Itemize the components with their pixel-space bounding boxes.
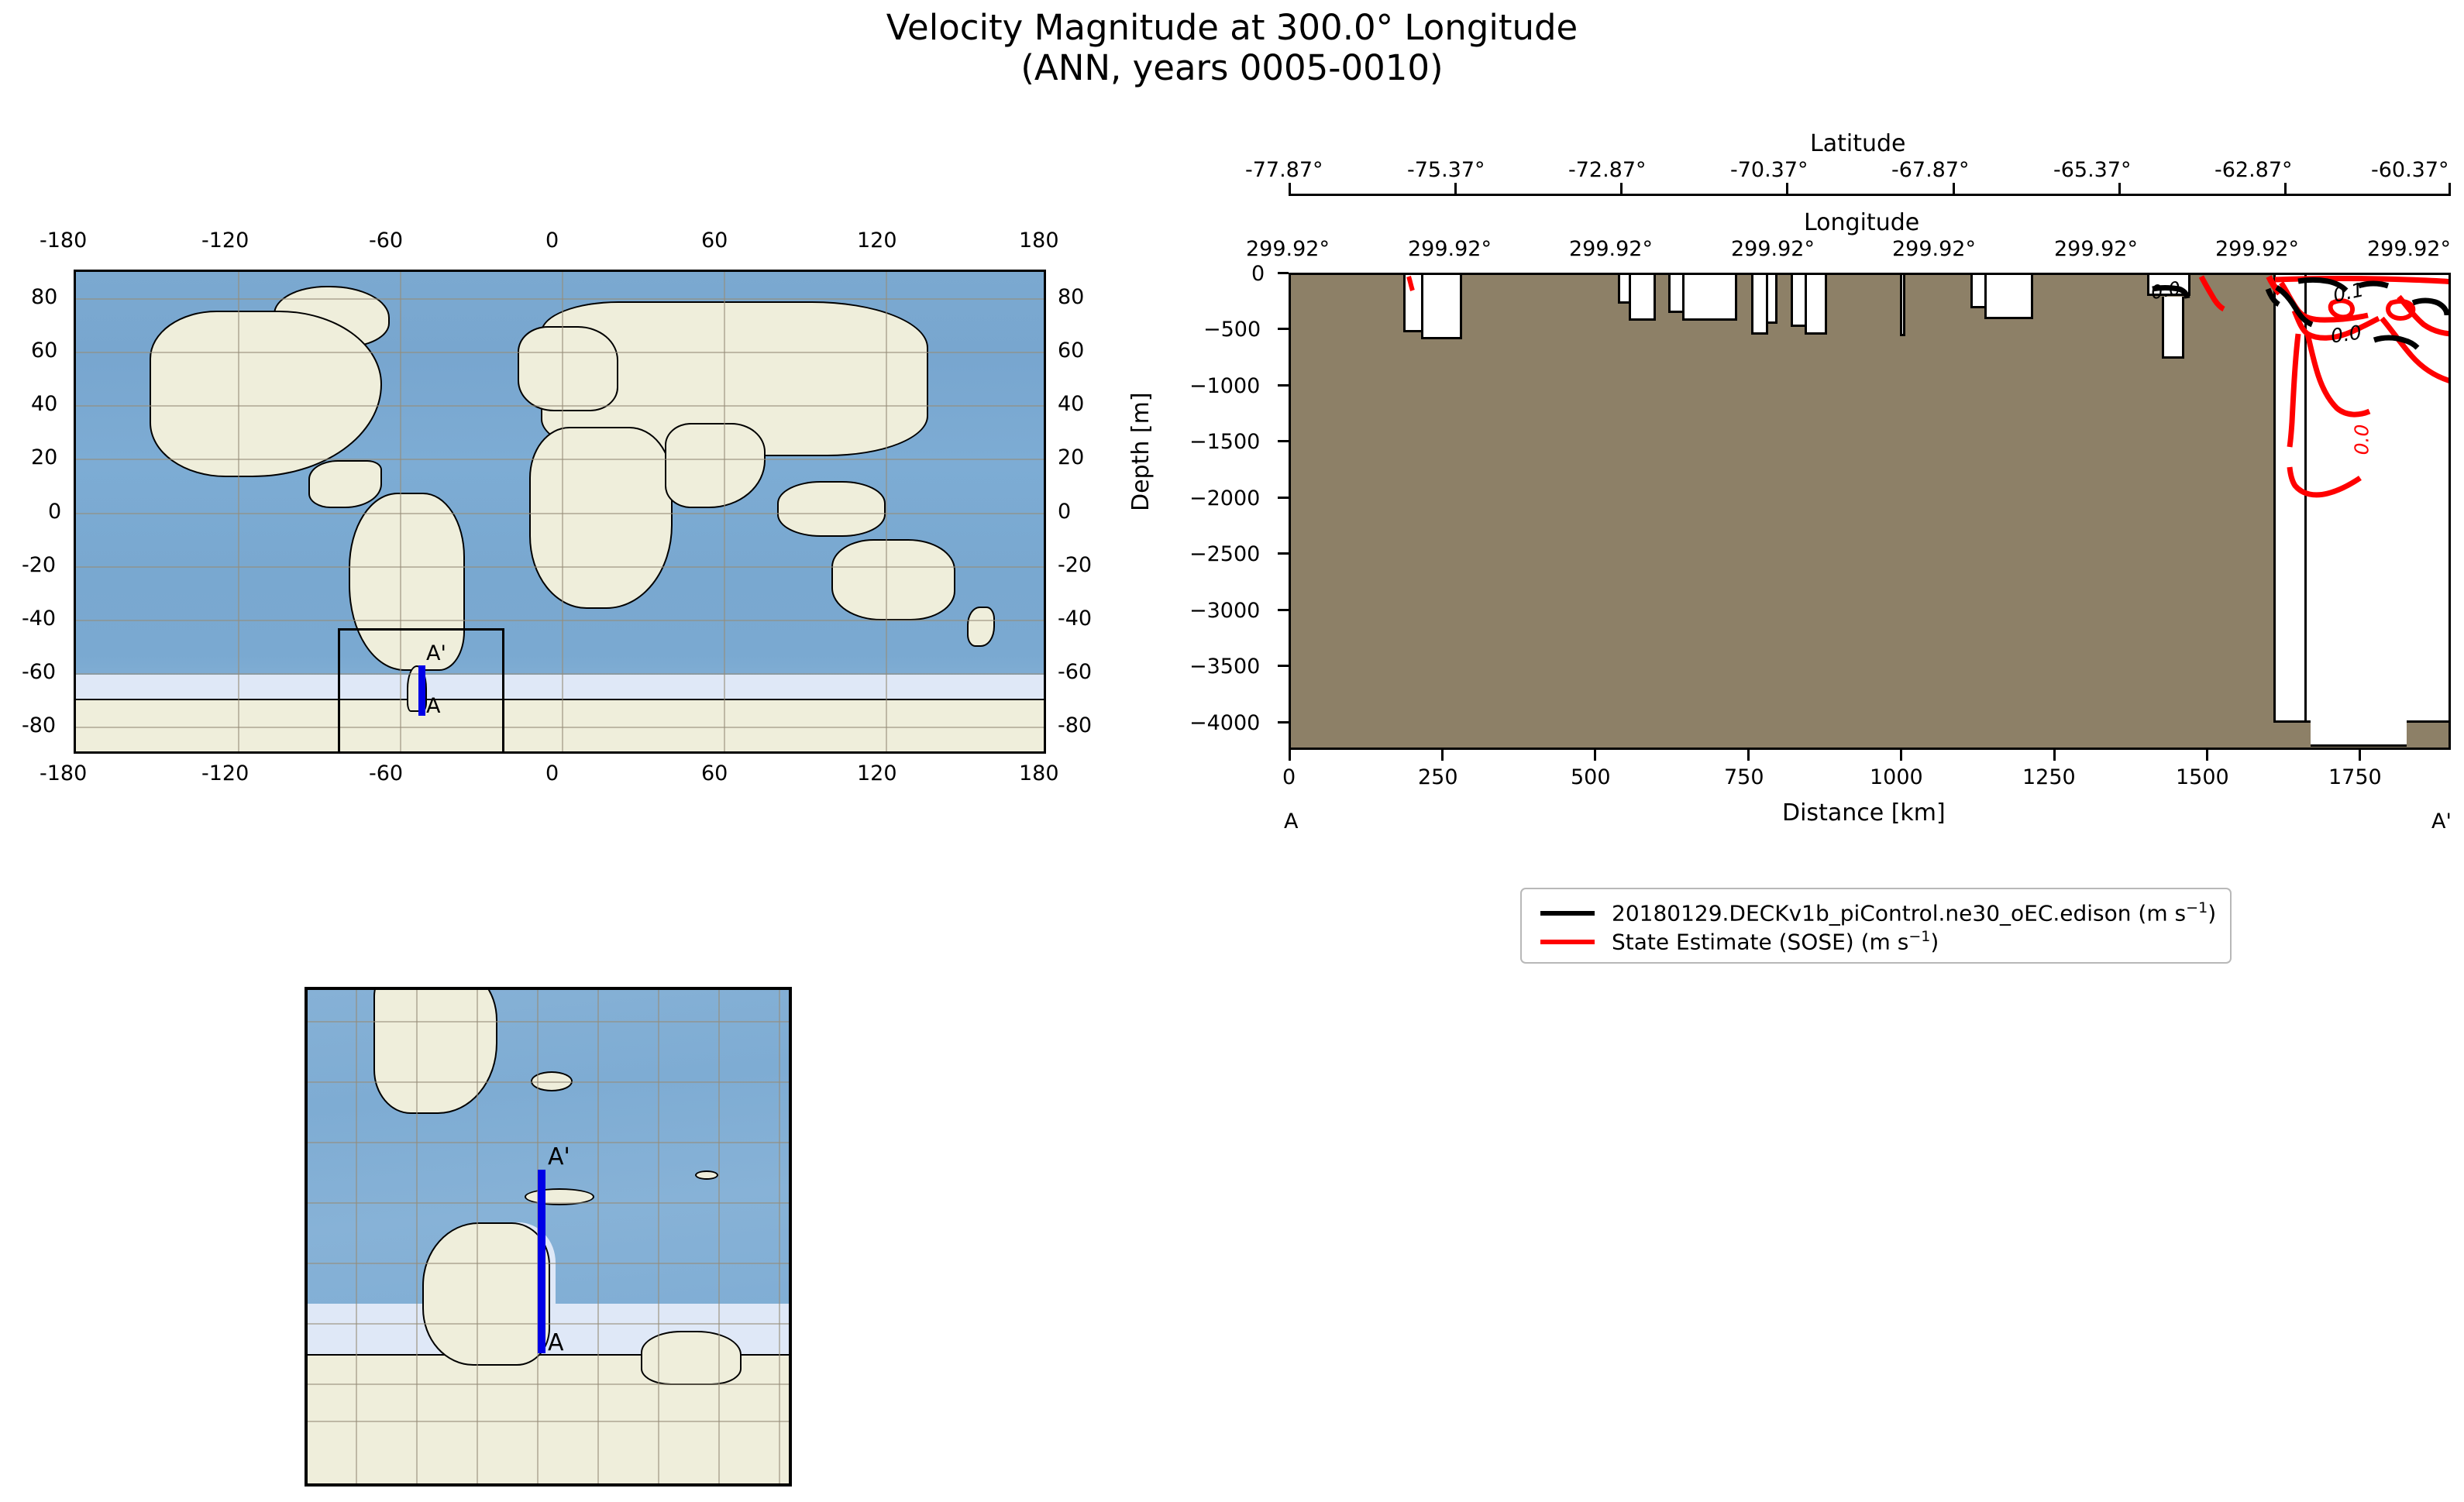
latitude-tickmark-7 — [2449, 183, 2451, 194]
inset-landmass-antarctica-lobe — [641, 1331, 742, 1385]
world-map-xtick-top-2: -60 — [369, 229, 403, 253]
world-map-xtick-bottom-3: 0 — [545, 761, 559, 785]
inset-graticule-h-7 — [308, 1383, 789, 1385]
inset-graticule-h-5 — [308, 1263, 789, 1264]
latitude-tick-0: -77.87° — [1245, 158, 1323, 182]
world-map-xtick-top-4: 60 — [701, 229, 728, 253]
world-map-ytick-left-5: -20 — [22, 553, 56, 577]
legend-label-observation-text: State Estimate (SOSE) (m s — [1612, 930, 1908, 955]
latitude-tickmark-0 — [1289, 183, 1291, 194]
ocean-column-slope-step — [2304, 273, 2451, 747]
depth-tickmark-2 — [1278, 384, 1289, 387]
latitude-tick-6: -62.87° — [2215, 158, 2293, 182]
depth-tickmark-6 — [1278, 609, 1289, 611]
inset-graticule-h-6 — [308, 1323, 789, 1325]
world-map-ytick-right-1: 60 — [1058, 339, 1084, 363]
legend-label-model-tail: ) — [2208, 901, 2216, 926]
contour-label-1: 0.0 — [2329, 321, 2362, 347]
page-title: Velocity Magnitude at 300.0° Longitude (… — [0, 8, 2464, 88]
cross-section-endpoint-A-prime: A' — [2431, 809, 2452, 833]
contour-label-2: 0.0 — [2350, 424, 2373, 455]
bathymetry-pedestal-right — [2407, 720, 2451, 750]
world-map-xtick-bottom-2: -60 — [369, 761, 403, 785]
depth-tickmark-5 — [1278, 552, 1289, 555]
world-map-frame: A' A — [74, 270, 1046, 754]
graticule-line-lon-120 — [886, 272, 887, 751]
depth-tickmark-8 — [1278, 721, 1289, 724]
transect-line-inset — [538, 1170, 545, 1353]
longitude-tick-2: 299.92° — [1569, 237, 1653, 261]
inset-graticule-h-1 — [308, 1021, 789, 1023]
world-map-xtick-top-3: 0 — [545, 229, 559, 253]
legend-label-model-text: 20180129.DECKv1b_piControl.ne30_oEC.edis… — [1612, 901, 2186, 926]
graticule-line-lat-m20 — [76, 566, 1044, 568]
legend-label-observation-sup: −1 — [1908, 928, 1930, 945]
world-map-ytick-right-3: 20 — [1058, 445, 1084, 469]
longitude-tick-0: 299.92° — [1246, 237, 1330, 261]
graticule-line-lat-0 — [76, 513, 1044, 514]
depth-tick-7: −3500 — [1189, 655, 1260, 679]
distance-axis-label: Distance [km] — [1782, 799, 1946, 827]
depth-tick-3: −1500 — [1189, 430, 1260, 454]
latitude-tick-1: -75.37° — [1407, 158, 1485, 182]
world-map-ytick-left-8: -80 — [22, 713, 56, 737]
world-map-ytick-left-7: -60 — [22, 660, 56, 684]
landmass-australia — [831, 539, 955, 620]
depth-tickmark-7 — [1278, 665, 1289, 667]
distance-tickmark-2 — [1594, 750, 1596, 761]
distance-tick-0: 0 — [1282, 765, 1296, 789]
latitude-tickmark-2 — [1620, 183, 1623, 194]
world-map-ytick-left-2: 40 — [31, 392, 57, 416]
distance-tick-6: 1500 — [2176, 765, 2229, 789]
cross-section-frame: 0.1 0.0 0.0 0.0 — [1289, 273, 2451, 750]
legend-label-observation-tail: ) — [1930, 930, 1939, 955]
legend-swatch-observation-line — [1540, 940, 1595, 944]
world-map-xtick-bottom-1: -120 — [201, 761, 249, 785]
graticule-line-lon-m120 — [238, 272, 239, 751]
inset-graticule-v-2 — [416, 990, 418, 1483]
legend[interactable]: 20180129.DECKv1b_piControl.ne30_oEC.edis… — [1520, 888, 2232, 964]
latitude-axis-spine — [1289, 194, 2451, 196]
landmass-southeast-asia — [777, 481, 886, 537]
depth-axis-label-text: Depth [m] — [1127, 392, 1155, 511]
longitude-tick-7: 299.92° — [2367, 237, 2451, 261]
distance-tick-3: 750 — [1724, 765, 1764, 789]
graticule-line-lon-60 — [724, 272, 725, 751]
inset-graticule-v-1 — [356, 990, 357, 1483]
latitude-tick-2: -72.87° — [1568, 158, 1647, 182]
world-map-ytick-right-6: -40 — [1058, 607, 1092, 631]
depth-tick-2: −1000 — [1189, 374, 1260, 398]
distance-tick-5: 1250 — [2022, 765, 2076, 789]
distance-tickmark-7 — [2359, 750, 2361, 761]
world-map-ytick-left-4: 0 — [48, 500, 61, 524]
world-map-xtick-bottom-6: 180 — [1019, 761, 1059, 785]
distance-tickmark-1 — [1441, 750, 1444, 761]
landmass-europe — [518, 326, 618, 411]
transect-line-world — [418, 665, 425, 716]
world-map-xtick-bottom-4: 60 — [701, 761, 728, 785]
latitude-tickmark-1 — [1454, 183, 1457, 194]
ocean-pocket-4b — [1751, 273, 1768, 335]
distance-tick-2: 500 — [1571, 765, 1611, 789]
distance-tickmark-3 — [1747, 750, 1750, 761]
graticule-line-lat-40 — [76, 405, 1044, 407]
latitude-tickmark-3 — [1786, 183, 1788, 194]
depth-tick-4: −2000 — [1189, 486, 1260, 510]
landmass-central-america — [308, 460, 382, 508]
world-map-xtick-top-1: -120 — [201, 229, 249, 253]
landmass-africa — [529, 427, 673, 609]
inset-graticule-h-2 — [308, 1081, 789, 1083]
graticule-line-lat-80 — [76, 298, 1044, 300]
depth-tickmark-4 — [1278, 497, 1289, 499]
title-line-2: (ANN, years 0005-0010) — [0, 48, 2464, 88]
latitude-axis-label: Latitude — [1810, 130, 1905, 157]
legend-label-model: 20180129.DECKv1b_piControl.ne30_oEC.edis… — [1612, 899, 2216, 926]
longitude-tick-1: 299.92° — [1408, 237, 1492, 261]
world-map-xtick-top-6: 180 — [1019, 229, 1059, 253]
depth-axis-label: Depth [m] — [1127, 392, 1155, 511]
inset-graticule-v-8 — [779, 990, 780, 1483]
distance-tickmark-0 — [1289, 750, 1291, 761]
latitude-tick-7: -60.37° — [2371, 158, 2449, 182]
landmass-new-zealand — [967, 607, 995, 647]
ocean-pocket-5b — [1805, 273, 1827, 335]
inset-landmass-antarctic-peninsula — [422, 1222, 550, 1366]
legend-entry-observation[interactable]: State Estimate (SOSE) (m s−1) — [1534, 927, 2218, 956]
inset-map-frame: A' A — [305, 987, 792, 1487]
bathymetry-pedestal-left — [2273, 720, 2311, 750]
transect-label-A-world: A — [426, 694, 440, 718]
distance-tick-4: 1000 — [1870, 765, 1923, 789]
inset-graticule-v-3 — [477, 990, 478, 1483]
figure-root: Velocity Magnitude at 300.0° Longitude (… — [0, 0, 2464, 1502]
regional-detail-map[interactable]: A' A — [305, 987, 792, 1487]
latitude-tickmark-4 — [1953, 183, 1955, 194]
legend-swatch-model-line — [1540, 911, 1595, 916]
transect-label-A-inset: A — [548, 1329, 564, 1356]
latitude-tick-5: -65.37° — [2053, 158, 2132, 182]
graticule-line-lat-m80 — [76, 727, 1044, 728]
legend-label-model-sup: −1 — [2186, 899, 2208, 916]
legend-entry-model[interactable]: 20180129.DECKv1b_piControl.ne30_oEC.edis… — [1534, 899, 2218, 927]
distance-tickmark-4 — [1900, 750, 1902, 761]
world-map-ytick-right-2: 40 — [1058, 392, 1084, 416]
graticule-line-lat-60 — [76, 352, 1044, 353]
depth-tickmark-1 — [1278, 328, 1289, 330]
world-map-ytick-right-0: 80 — [1058, 285, 1084, 309]
world-map-ytick-right-4: 0 — [1058, 500, 1071, 524]
ocean-pocket-8b — [2162, 297, 2184, 359]
longitude-tick-3: 299.92° — [1731, 237, 1815, 261]
latitude-tickmark-6 — [2284, 183, 2287, 194]
graticule-line-lat-m60 — [76, 673, 1044, 675]
ocean-pocket-3b — [1682, 273, 1737, 321]
depth-tickmark-3 — [1278, 440, 1289, 442]
inset-graticule-v-5 — [597, 990, 599, 1483]
inset-graticule-h-8 — [308, 1421, 789, 1422]
world-map-ytick-left-1: 60 — [31, 339, 57, 363]
longitude-axis-label: Longitude — [1804, 209, 1919, 236]
latitude-tick-3: -70.37° — [1730, 158, 1808, 182]
world-map-ytick-left-6: -40 — [22, 607, 56, 631]
world-map-ytick-right-7: -60 — [1058, 660, 1092, 684]
graticule-line-lat-20 — [76, 459, 1044, 460]
latitude-tick-4: -67.87° — [1891, 158, 1970, 182]
depth-tick-1: −500 — [1203, 318, 1261, 342]
world-map-ytick-left-0: 80 — [31, 285, 57, 309]
velocity-cross-section-plot[interactable]: 0.1 0.0 0.0 0.0 — [1289, 273, 2451, 750]
transect-label-A-prime-world: A' — [426, 641, 446, 665]
ocean-pocket-2b — [1629, 273, 1656, 321]
depth-tick-5: −2500 — [1189, 542, 1260, 566]
world-map-ytick-right-8: -80 — [1058, 713, 1092, 737]
world-map-xtick-top-0: -180 — [40, 229, 87, 253]
inset-landmass-south-georgia — [695, 1170, 718, 1180]
longitude-tick-5: 299.92° — [2054, 237, 2138, 261]
world-map-xtick-bottom-0: -180 — [40, 761, 87, 785]
latitude-tickmark-5 — [2118, 183, 2121, 194]
distance-tickmark-6 — [2206, 750, 2208, 761]
legend-label-observation: State Estimate (SOSE) (m s−1) — [1612, 928, 1939, 954]
title-line-1: Velocity Magnitude at 300.0° Longitude — [0, 8, 2464, 48]
distance-tickmark-5 — [2053, 750, 2056, 761]
depth-tick-0: 0 — [1251, 262, 1265, 286]
world-map-ytick-right-5: -20 — [1058, 553, 1092, 577]
world-map-xtick-top-5: 120 — [857, 229, 897, 253]
distance-tick-1: 250 — [1418, 765, 1458, 789]
distance-tick-7: 1750 — [2328, 765, 2382, 789]
inset-graticule-v-7 — [718, 990, 720, 1483]
depth-tickmark-0 — [1278, 272, 1289, 274]
ocean-pocket-7b — [1984, 273, 2033, 319]
depth-tick-8: −4000 — [1189, 711, 1260, 735]
transect-label-A-prime-inset: A' — [548, 1143, 570, 1170]
inset-graticule-v-6 — [658, 990, 659, 1483]
global-overview-map[interactable]: A' A — [74, 270, 1046, 754]
cross-section-endpoint-A: A — [1284, 809, 1298, 833]
world-map-xtick-bottom-5: 120 — [857, 761, 897, 785]
longitude-tick-4: 299.92° — [1892, 237, 1976, 261]
graticule-line-lon-0 — [562, 272, 563, 751]
longitude-tick-6: 299.92° — [2215, 237, 2299, 261]
inset-graticule-h-4 — [308, 1202, 789, 1204]
graticule-line-lat-m40 — [76, 620, 1044, 621]
ocean-pocket-1b — [1421, 273, 1462, 339]
depth-tick-6: −3000 — [1189, 599, 1260, 623]
world-map-ytick-left-3: 20 — [31, 445, 57, 469]
ocean-pocket-6-narrow — [1900, 273, 1905, 336]
